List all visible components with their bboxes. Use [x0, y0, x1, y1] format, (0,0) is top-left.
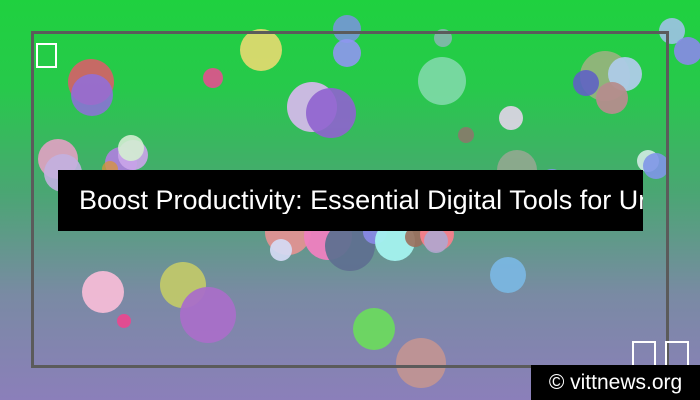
article-thumbnail-image: Boost Productivity: Essential Digital To… [0, 0, 700, 400]
decorative-bubble [674, 37, 700, 65]
title-banner: Boost Productivity: Essential Digital To… [58, 170, 643, 231]
article-title: Boost Productivity: Essential Digital To… [58, 187, 643, 214]
watermark-banner: © vittnews.org [531, 365, 700, 400]
placeholder-box-top-left [36, 43, 57, 68]
watermark-attribution: © vittnews.org [549, 372, 682, 393]
